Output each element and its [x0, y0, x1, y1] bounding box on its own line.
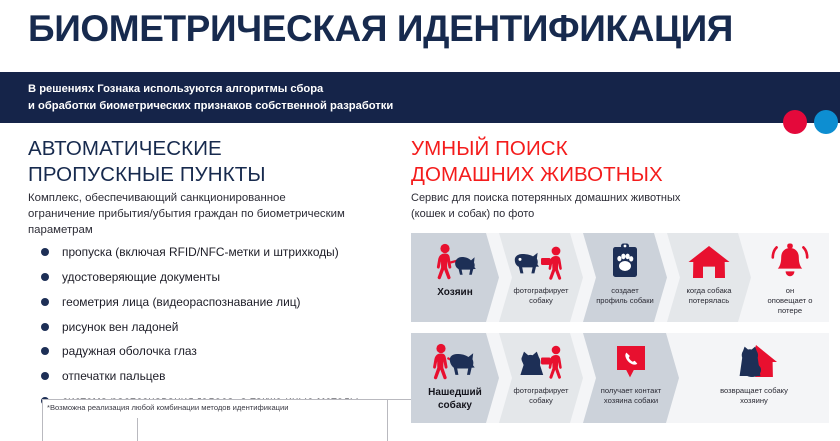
list-item: пропуска (включая RFID/NFC-метки и штрих… [41, 245, 406, 259]
left-column: АВТОМАТИЧЕСКИЕ ПРОПУСКНЫЕ ПУНКТЫ Комплек… [28, 136, 406, 419]
step-content: Нашедший собаку [411, 333, 499, 412]
step-label: Хозяин [437, 286, 473, 299]
step-label: он оповещает о потере [768, 286, 813, 316]
house-icon [688, 242, 730, 282]
step-content: он оповещает о потере [751, 233, 829, 316]
clipboard-paw-icon [610, 242, 640, 282]
right-heading: УМНЫЙ ПОИСК ДОМАШНИХ ЖИВОТНЫХ [411, 136, 829, 188]
footnote-connector-vertical [137, 418, 138, 441]
process-step: фотографирует собаку [499, 333, 583, 423]
blue-dot-icon [814, 110, 838, 134]
step-content: когда собака потерялась [667, 233, 751, 306]
bullet-icon [41, 298, 49, 306]
process-step: Нашедший собаку [411, 333, 499, 423]
owner-flow-row: Хозяин фотографирует собаку создает проф… [411, 233, 829, 322]
bullet-icon [41, 372, 49, 380]
footnote-text: *Возможна реализация любой комбинации ме… [47, 403, 289, 412]
footnote-box: *Возможна реализация любой комбинации ме… [42, 399, 388, 441]
list-item-label: пропуска (включая RFID/NFC-метки и штрих… [62, 245, 339, 259]
process-step: когда собака потерялась [667, 233, 751, 322]
process-step: возвращает собаку хозяину [679, 333, 829, 423]
dog-photo-icon [514, 242, 568, 282]
person-with-dog-icon [431, 342, 479, 382]
step-label: когда собака потерялась [686, 286, 731, 306]
process-step: получает контакт хозяина собаки [583, 333, 679, 423]
list-item: удостоверяющие документы [41, 270, 406, 284]
footnote-connector-horizontal [388, 399, 411, 400]
step-label: получает контакт хозяина собаки [601, 386, 661, 406]
process-step: он оповещает о потере [751, 233, 829, 322]
step-content: фотографирует собаку [499, 333, 583, 406]
process-step: создает профиль собаки [583, 233, 667, 322]
bullet-icon [41, 323, 49, 331]
list-item-label: радужная оболочка глаз [62, 344, 197, 358]
dog-house-return-icon [730, 342, 778, 382]
finder-flow-row: Нашедший собаку фотографирует собаку пол… [411, 333, 829, 423]
left-description: Комплекс, обеспечивающий санкционированн… [28, 191, 406, 238]
cat-photo-icon [515, 342, 567, 382]
list-item-label: отпечатки пальцев [62, 369, 165, 383]
step-content: возвращает собаку хозяину [679, 333, 829, 406]
red-dot-icon [783, 110, 807, 134]
bullet-icon [41, 347, 49, 355]
right-description: Сервис для поиска потерянных домашних жи… [411, 191, 829, 222]
left-heading: АВТОМАТИЧЕСКИЕ ПРОПУСКНЫЕ ПУНКТЫ [28, 136, 406, 188]
bullet-icon [41, 273, 49, 281]
list-item: радужная оболочка глаз [41, 344, 406, 358]
process-step: Хозяин [411, 233, 499, 322]
step-content: получает контакт хозяина собаки [583, 333, 679, 406]
step-label: возвращает собаку хозяину [720, 386, 788, 406]
list-item: отпечатки пальцев [41, 369, 406, 383]
step-label: Нашедший собаку [428, 386, 482, 412]
step-label: создает профиль собаки [596, 286, 654, 306]
list-item: рисунок вен ладоней [41, 320, 406, 334]
step-content: фотографирует собаку [499, 233, 583, 306]
page-title: БИОМЕТРИЧЕСКАЯ ИДЕНТИФИКАЦИЯ [28, 7, 733, 51]
list-item-label: удостоверяющие документы [62, 270, 220, 284]
step-label: фотографирует собаку [514, 286, 569, 306]
banner-text: В решениях Гознака используются алгоритм… [28, 81, 393, 115]
biometric-methods-list: пропуска (включая RFID/NFC-метки и штрих… [28, 245, 406, 408]
bell-icon [770, 242, 810, 282]
phone-pin-icon [614, 342, 648, 382]
list-item: геометрия лица (видеораспознавание лиц) [41, 295, 406, 309]
slide-root: БИОМЕТРИЧЕСКАЯ ИДЕНТИФИКАЦИЯ В решениях … [0, 0, 840, 441]
right-column: УМНЫЙ ПОИСК ДОМАШНИХ ЖИВОТНЫХ Сервис для… [411, 136, 829, 423]
list-item-label: рисунок вен ладоней [62, 320, 178, 334]
step-content: создает профиль собаки [583, 233, 667, 306]
person-walking-dog-icon [432, 242, 478, 282]
bullet-icon [41, 248, 49, 256]
step-content: Хозяин [411, 233, 499, 299]
step-label: фотографирует собаку [514, 386, 569, 406]
process-step: фотографирует собаку [499, 233, 583, 322]
banner: В решениях Гознака используются алгоритм… [0, 72, 840, 123]
list-item-label: геометрия лица (видеораспознавание лиц) [62, 295, 301, 309]
